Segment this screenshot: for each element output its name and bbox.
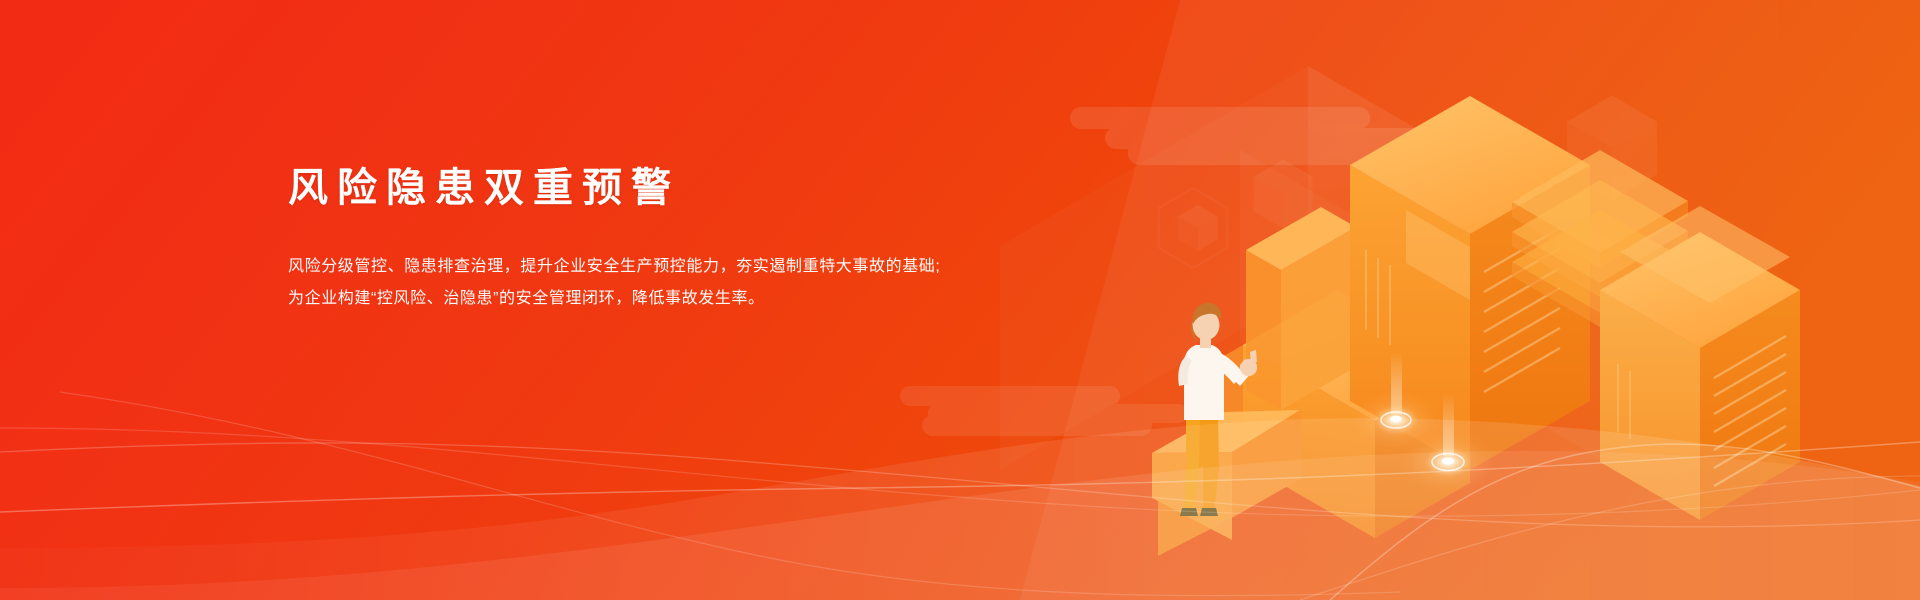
risk-warning-banner: 风险隐患双重预警 风险分级管控、隐患排查治理，提升企业安全生产预控能力，夯实遏制… bbox=[0, 0, 1920, 600]
subtitle-line-2: 为企业构建“控风险、治隐患”的安全管理闭环，降低事故发生率。 bbox=[288, 283, 1048, 315]
subtitle-line-1: 风险分级管控、隐患排查治理，提升企业安全生产预控能力，夯实遏制重特大事故的基础; bbox=[288, 251, 1048, 283]
page-title: 风险隐患双重预警 bbox=[288, 166, 1048, 211]
banner-copy: 风险隐患双重预警 风险分级管控、隐患排查治理，提升企业安全生产预控能力，夯实遏制… bbox=[288, 166, 1048, 315]
banner-subtitle: 风险分级管控、隐患排查治理，提升企业安全生产预控能力，夯实遏制重特大事故的基础;… bbox=[288, 251, 1048, 315]
